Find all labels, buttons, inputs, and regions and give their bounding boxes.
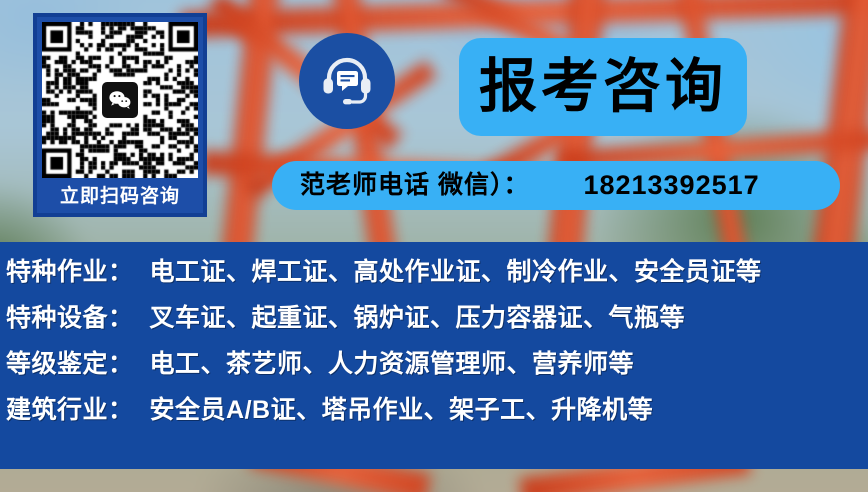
info-row-items: 电工证、焊工证、高处作业证、制冷作业、安全员证等 (150, 260, 762, 285)
advertisement-poster: 立即扫码咨询 报考咨询 范老师电话 微信）： 18213392517 特种作业：… (0, 0, 868, 492)
contact-pill[interactable]: 范老师电话 微信）： 18213392517 (272, 161, 840, 210)
info-row-category: 等级鉴定： (6, 352, 134, 377)
info-row: 建筑行业： 安全员A/B证、塔吊作业、架子工、升降机等 (6, 398, 868, 444)
info-row-category: 特种作业： (6, 260, 134, 285)
title-text: 报考咨询 (479, 58, 727, 116)
certificate-list-panel: 特种作业： 电工证、焊工证、高处作业证、制冷作业、安全员证等 特种设备： 叉车证… (0, 242, 868, 469)
info-row-items: 安全员A/B证、塔吊作业、架子工、升降机等 (150, 398, 654, 423)
info-row-items: 电工、茶艺师、人力资源管理师、营养师等 (150, 352, 635, 377)
title-badge: 报考咨询 (459, 38, 747, 136)
contact-phone-number[interactable]: 18213392517 (583, 172, 759, 199)
info-row-category: 特种设备： (6, 306, 134, 331)
info-row: 特种作业： 电工证、焊工证、高处作业证、制冷作业、安全员证等 (6, 260, 868, 306)
qr-code-panel[interactable]: 立即扫码咨询 (33, 13, 207, 217)
qr-caption: 立即扫码咨询 (60, 187, 180, 206)
wechat-icon (102, 82, 138, 118)
headset-support-icon (299, 33, 395, 129)
contact-label: 范老师电话 微信）： (300, 173, 529, 198)
info-row: 等级鉴定： 电工、茶艺师、人力资源管理师、营养师等 (6, 352, 868, 398)
info-row: 特种设备： 叉车证、起重证、锅炉证、压力容器证、气瓶等 (6, 306, 868, 352)
info-row-category: 建筑行业： (6, 398, 134, 423)
qr-code-image[interactable] (42, 22, 198, 178)
info-row-items: 叉车证、起重证、锅炉证、压力容器证、气瓶等 (150, 306, 686, 331)
